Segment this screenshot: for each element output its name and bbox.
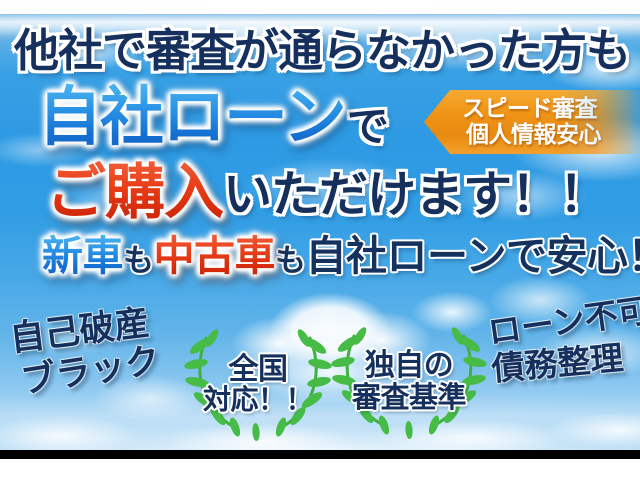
headline-chukosha: 中古車 <box>154 232 276 280</box>
headline-jisha-loan-anshin: 自社ローンで安心！ <box>306 232 640 280</box>
headline-line-1-text: 他社で審査が通らなかった方も <box>14 24 630 77</box>
footer-black-bar <box>0 450 640 459</box>
headline-particle-mo-2: も <box>275 243 306 279</box>
headline-gokonyu: ご購入 <box>46 158 223 228</box>
headline-itadakemasu: いただけます！！ <box>223 166 607 223</box>
wreath-badge-own-criteria: 独自の 審査基準 <box>334 322 484 434</box>
top-haze-band <box>0 14 640 22</box>
speed-badge-line-1: スピード審査 <box>462 96 632 122</box>
headline-line-4: 新車も中古車も自社ローンで安心！ <box>42 236 640 277</box>
headline-line-2: 自社ローンで <box>38 86 387 150</box>
headline-jisha-loan: 自社ローン <box>38 81 345 155</box>
wreath-2-line-2: 審査基準 <box>334 374 484 416</box>
headline-particle-de: で <box>347 102 387 151</box>
headline-line-1: 他社で審査が通らなかった方も <box>14 28 630 73</box>
speed-review-badge: スピード審査 個人情報安心 <box>424 90 640 154</box>
wreath-1-line-2: 対応！！ <box>188 378 328 418</box>
wreath-badge-nationwide: 全国 対応！！ <box>188 324 328 436</box>
headline-particle-mo-1: も <box>123 243 154 279</box>
headline-line-3: ご購入いただけます！！ <box>46 163 607 223</box>
promo-banner: 他社で審査が通らなかった方も 自社ローンで ご購入いただけます！！ 新車も中古車… <box>0 0 640 480</box>
speed-badge-line-2: 個人情報安心 <box>462 122 632 148</box>
headline-shinsha: 新車 <box>42 232 123 280</box>
footer-white-area <box>0 459 640 480</box>
